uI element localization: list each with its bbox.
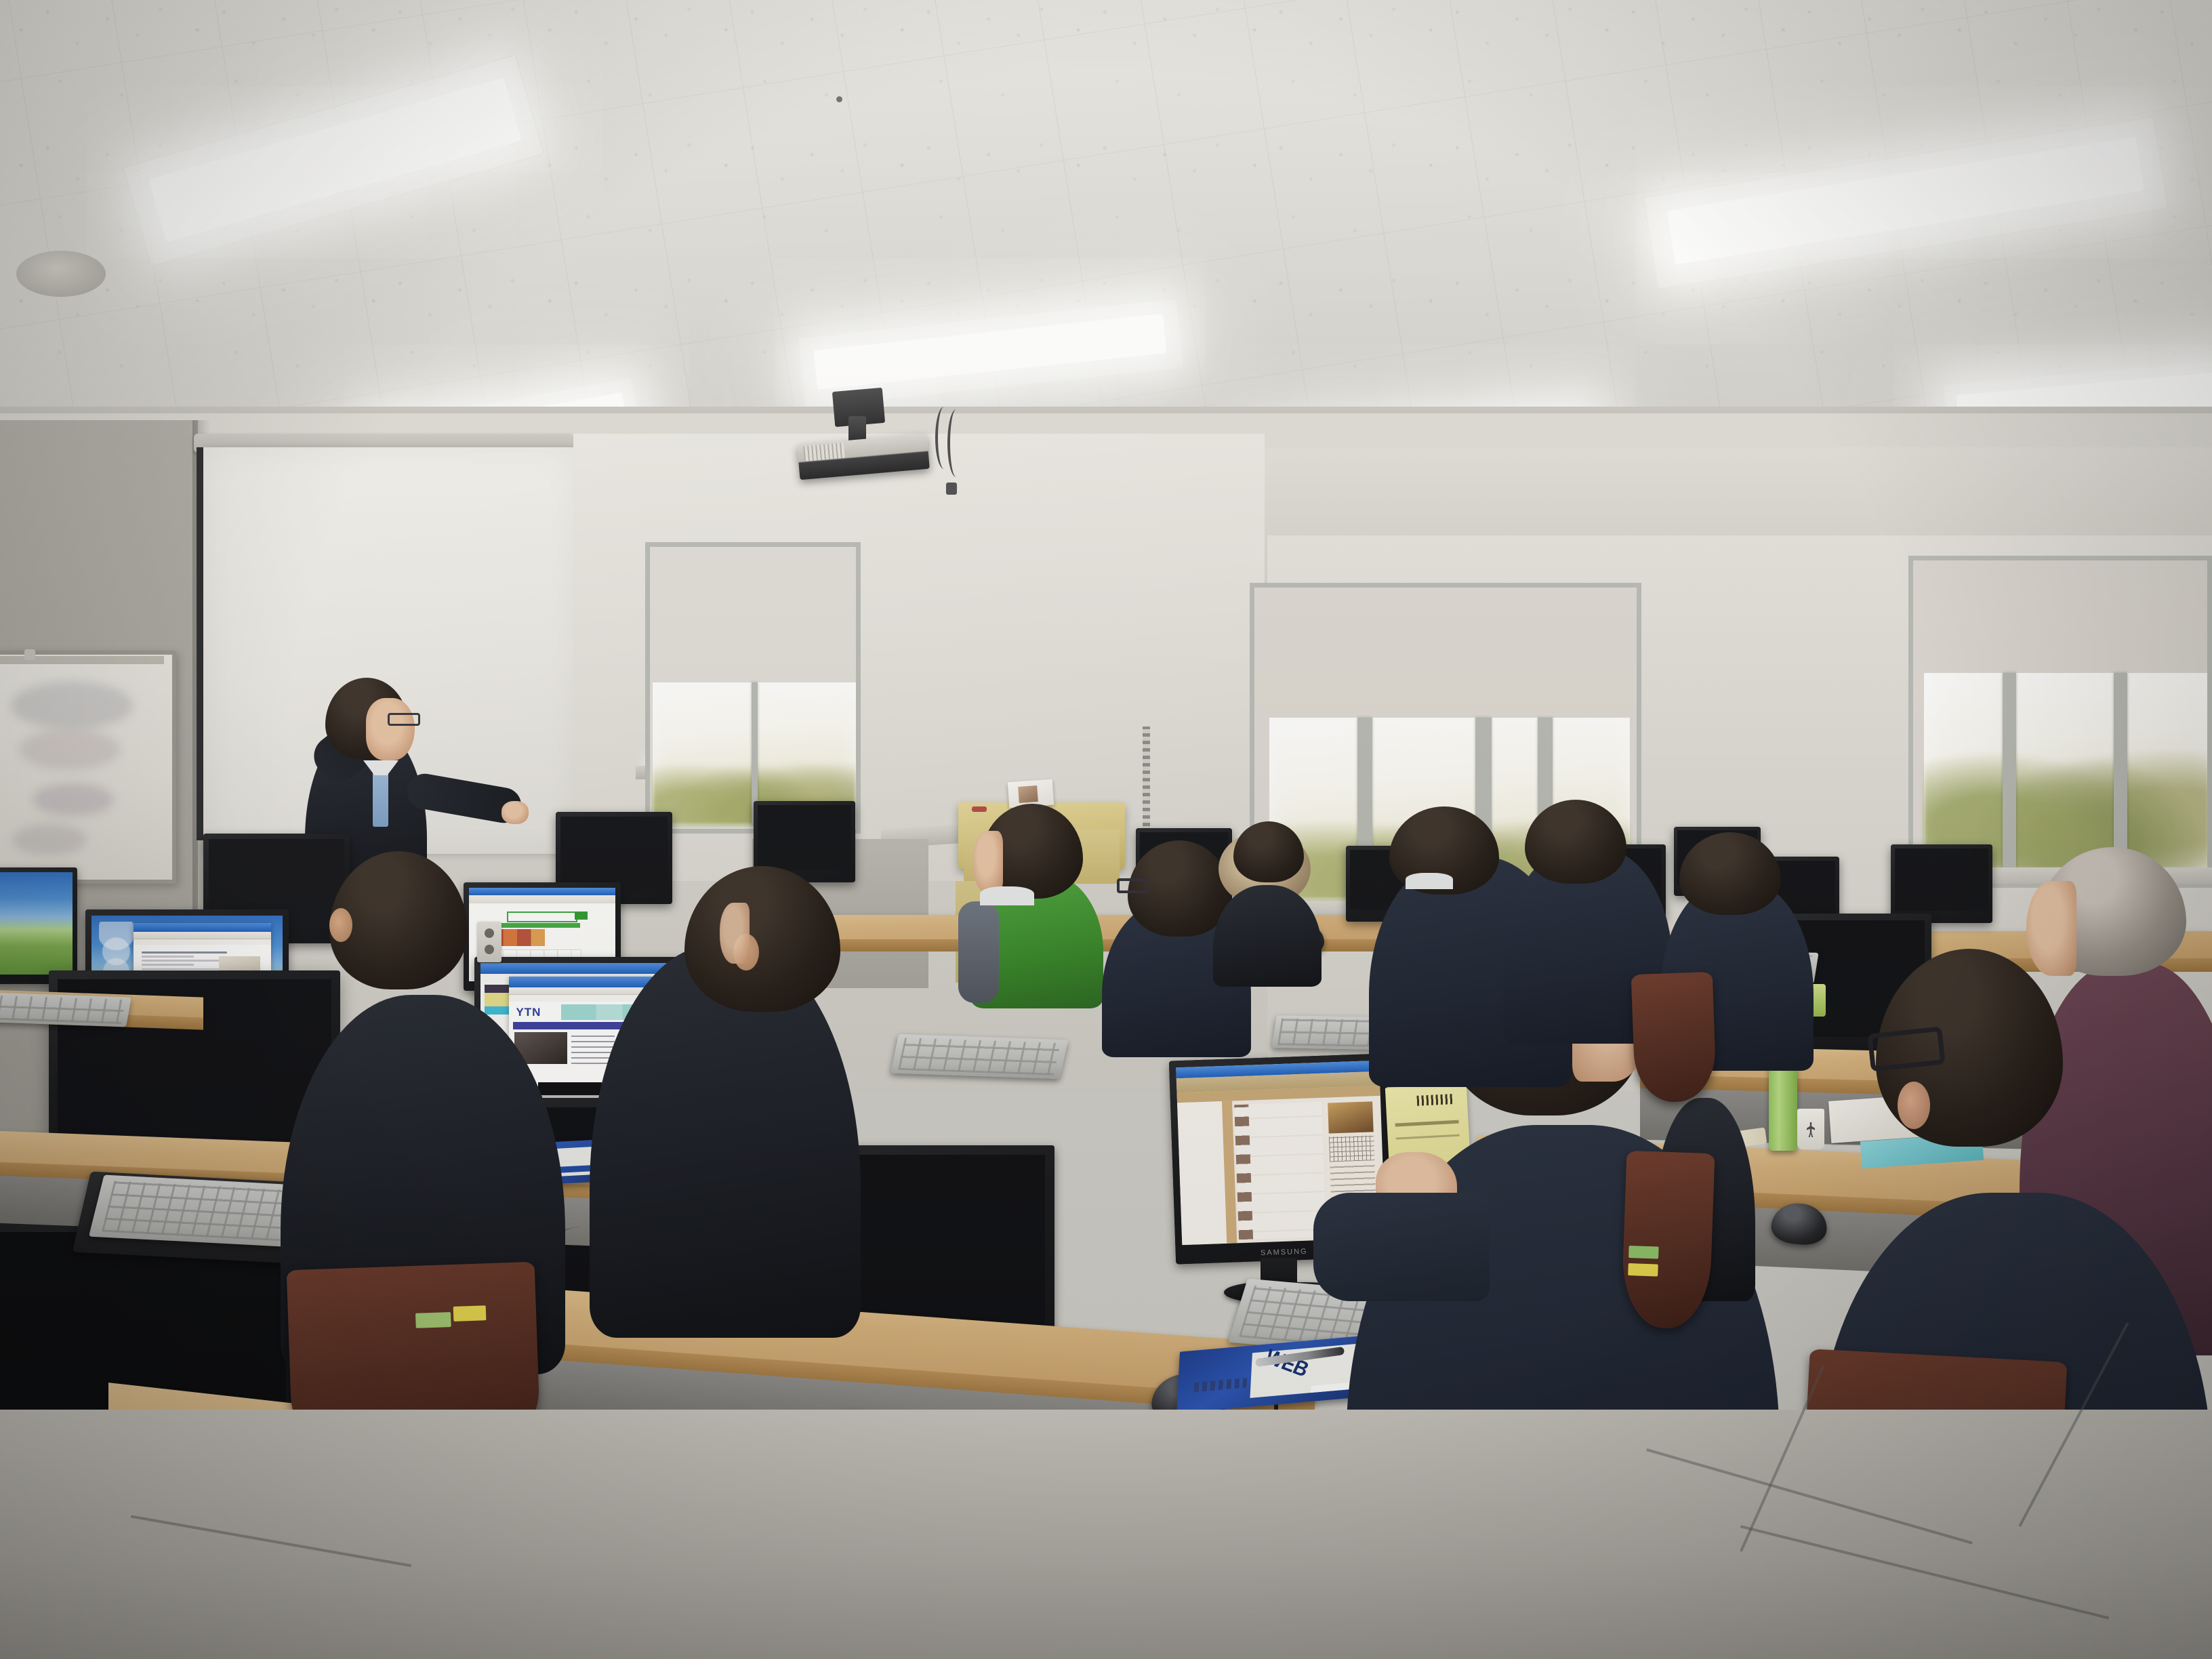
browser-titlebar — [134, 923, 271, 933]
keyboard-row3[interactable] — [890, 1034, 1068, 1079]
bg-page-left-band — [480, 963, 682, 974]
keyboard-far-left-back[interactable] — [0, 993, 131, 1027]
monitor-brand-blog: SAMSUNG — [1261, 1248, 1308, 1257]
bg-page-cyan-strip — [485, 1006, 509, 1015]
student-backright-collar — [1406, 873, 1453, 889]
student-green-vest-face — [973, 831, 1003, 893]
window-mullion-3b — [2114, 673, 2127, 869]
floor — [0, 1410, 2212, 1659]
blog-profile-avatar — [1328, 1101, 1374, 1133]
monitor-back-8 — [1891, 844, 1992, 923]
window-1 — [645, 542, 861, 834]
student-frontleft-ear — [329, 908, 352, 942]
green-thermos-tumbler[interactable] — [1769, 1063, 1797, 1151]
student-rightfront-ear — [1898, 1082, 1930, 1129]
ceiling-speck-1 — [836, 96, 842, 102]
ytn-logo: YTN — [516, 1005, 559, 1020]
podium-marker — [972, 806, 987, 812]
browser-titlebar-ytn — [509, 977, 655, 987]
chair-sticker-yellow-3 — [1628, 1263, 1658, 1277]
student-green-vest-sleeve — [958, 901, 999, 1003]
window-glass-3 — [1924, 673, 2209, 869]
portal-toolbar — [469, 895, 615, 903]
chair-sticker-green-3 — [1629, 1246, 1659, 1259]
student-rightfront-glasses-icon — [1867, 1026, 1945, 1071]
whiteboard-magnet-icon — [24, 649, 35, 660]
chair-sticker-yellow — [453, 1305, 487, 1322]
chair-mid-right[interactable] — [1631, 972, 1717, 1103]
student-midleft-cheek — [720, 903, 750, 964]
whiteboard — [0, 651, 176, 884]
podium-document-photo — [1018, 785, 1038, 803]
portal-titlebar — [469, 888, 615, 895]
classroom-photo: YTN SAMSUNG — [0, 0, 2212, 1659]
window-mullion-3a — [2003, 673, 2016, 869]
instructor-face — [366, 698, 415, 760]
student-frontcenter-sleeve — [1313, 1193, 1490, 1301]
blog-sidebar-calendar — [1329, 1135, 1374, 1162]
student-greyhair-face — [2026, 881, 2076, 976]
folder-barcode — [1416, 1094, 1454, 1105]
ytn-bottom-black — [538, 1082, 602, 1095]
portal-searchbar[interactable] — [507, 912, 577, 922]
folder-line-2 — [1396, 1134, 1460, 1140]
instructor-hand-point — [501, 801, 529, 824]
window-3 — [1908, 556, 2212, 888]
monitor-xp-left — [0, 867, 77, 984]
bg-page-dark-strip — [485, 985, 509, 993]
projector-sensor — [946, 483, 957, 495]
portal-search-button[interactable] — [575, 912, 588, 920]
blog-left-margin — [1177, 1101, 1227, 1245]
instructor-glasses-icon — [388, 713, 420, 726]
instructor-tie — [373, 767, 388, 827]
student-green-vest-collar — [980, 886, 1034, 905]
portal-green-banner — [489, 923, 580, 928]
ceiling-speaker-icon — [16, 251, 106, 297]
bg-page-yellow-strip — [485, 993, 509, 1006]
projector-cable-2 — [947, 409, 965, 477]
folder-line-1 — [1395, 1120, 1459, 1127]
browser-menubar-ytn — [509, 987, 655, 996]
chair-sticker-green — [415, 1312, 451, 1328]
web-book-spine-text — [1194, 1378, 1247, 1392]
wall-outlet[interactable] — [477, 922, 501, 962]
student-navy-back-glasses-icon — [1117, 878, 1148, 893]
browser-menubar — [134, 932, 271, 939]
